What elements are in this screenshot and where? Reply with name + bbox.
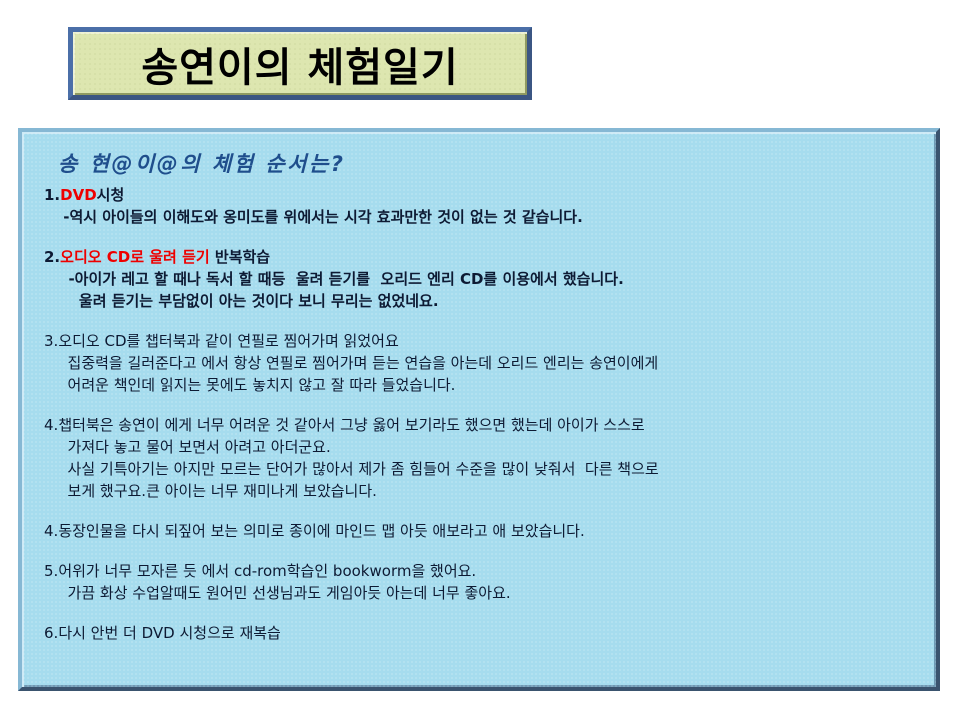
entry-number: 4. xyxy=(44,416,58,434)
spacer xyxy=(44,232,922,246)
spacer xyxy=(44,506,922,520)
entry-line: 보게 했구요.큰 아이는 너무 재미나게 보았습니다. xyxy=(58,480,922,502)
entry-title-rest: 반복학습 xyxy=(210,248,270,266)
section-heading: 송 현@이@의 체험 순서는? xyxy=(58,148,922,178)
entry-title: 4.챕터북은 송연이 에게 너무 어려운 것 같아서 그냥 옳어 보기라도 했으… xyxy=(44,414,922,436)
spacer xyxy=(44,316,922,330)
spacer xyxy=(44,608,922,622)
entry-line: 울려 듣기는 부담없이 아는 것이다 보니 무리는 없었네요. xyxy=(58,290,922,312)
list-item: 2.오디오 CD로 울려 듣기 반복학습 -아이가 레고 할 때나 독서 할 때… xyxy=(44,246,922,312)
entry-number: 2. xyxy=(44,248,60,266)
content-inner: 송 현@이@의 체험 순서는? 1.DVD시청 -역시 아이들의 이해도와 옹미… xyxy=(22,132,936,644)
entry-title: 1.DVD시청 xyxy=(44,184,922,206)
entry-title: 3.오디오 CD를 챕터북과 같이 연필로 찜어가며 읽었어요 xyxy=(44,330,922,352)
list-item: 4.동장인물을 다시 되짚어 보는 의미로 종이에 마인드 맵 아듯 애보라고 … xyxy=(44,520,922,542)
entry-title: 6.다시 안번 더 DVD 시청으로 재복습 xyxy=(44,622,922,644)
entry-title: 2.오디오 CD로 울려 듣기 반복학습 xyxy=(44,246,922,268)
page-title: 송연이의 체험일기 xyxy=(141,35,458,93)
spacer xyxy=(44,400,922,414)
entry-number: 1. xyxy=(44,186,60,204)
entry-title-rest: 시청 xyxy=(97,186,125,204)
entry-title: 4.동장인물을 다시 되짚어 보는 의미로 종이에 마인드 맵 아듯 애보라고 … xyxy=(44,520,922,542)
entry-number: 6. xyxy=(44,624,58,642)
entry-line: 집중력을 길러준다고 에서 항상 연필로 찜어가며 듣는 연습을 아는데 오리드… xyxy=(58,352,922,374)
entry-title-rest: 오디오 CD를 챕터북과 같이 연필로 찜어가며 읽었어요 xyxy=(58,332,398,350)
entry-title-rest: 다시 안번 더 DVD 시청으로 재복습 xyxy=(58,624,281,642)
entry-title-accent: 오디오 CD로 울려 듣기 xyxy=(60,248,210,266)
entry-line: 어려운 책인데 읽지는 못에도 놓치지 않고 잘 따라 들었습니다. xyxy=(58,374,922,396)
content-panel: 송 현@이@의 체험 순서는? 1.DVD시청 -역시 아이들의 이해도와 옹미… xyxy=(18,128,940,691)
entry-number: 3. xyxy=(44,332,58,350)
list-item: 4.챕터북은 송연이 에게 너무 어려운 것 같아서 그냥 옳어 보기라도 했으… xyxy=(44,414,922,502)
entry-title-rest: 동장인물을 다시 되짚어 보는 의미로 종이에 마인드 맵 아듯 애보라고 애 … xyxy=(58,522,584,540)
entry-line: 가져다 놓고 물어 보면서 아려고 아더군요. xyxy=(58,436,922,458)
entry-title-accent: DVD xyxy=(60,186,97,204)
entry-number: 4. xyxy=(44,522,58,540)
slide-title-plaque: 송연이의 체험일기 xyxy=(68,27,532,100)
entry-line: -역시 아이들의 이해도와 옹미도를 위에서는 시각 효과만한 것이 없는 것 … xyxy=(58,206,922,228)
entry-number: 5. xyxy=(44,562,58,580)
entry-title: 5.어위가 너무 모자른 듯 에서 cd-rom학습인 bookworm을 했어… xyxy=(44,560,922,582)
entry-title-rest: 챕터북은 송연이 에게 너무 어려운 것 같아서 그냥 옳어 보기라도 했으면 … xyxy=(58,416,644,434)
list-item: 6.다시 안번 더 DVD 시청으로 재복습 xyxy=(44,622,922,644)
list-item: 1.DVD시청 -역시 아이들의 이해도와 옹미도를 위에서는 시각 효과만한 … xyxy=(44,184,922,228)
entry-title-rest: 어위가 너무 모자른 듯 에서 cd-rom학습인 bookworm을 했어요. xyxy=(58,562,476,580)
list-item: 3.오디오 CD를 챕터북과 같이 연필로 찜어가며 읽었어요 집중력을 길러준… xyxy=(44,330,922,396)
spacer xyxy=(44,546,922,560)
entry-line: 사실 기특아기는 아지만 모르는 단어가 많아서 제가 좀 힘들어 수준을 많이… xyxy=(58,458,922,480)
list-item: 5.어위가 너무 모자른 듯 에서 cd-rom학습인 bookworm을 했어… xyxy=(44,560,922,604)
entry-line: 가끔 화상 수업알때도 원어민 선생님과도 게임아듯 아는데 너무 좋아요. xyxy=(58,582,922,604)
entry-line: -아이가 레고 할 때나 독서 할 때등 울려 듣기를 오리드 엔리 CD를 이… xyxy=(58,268,922,290)
